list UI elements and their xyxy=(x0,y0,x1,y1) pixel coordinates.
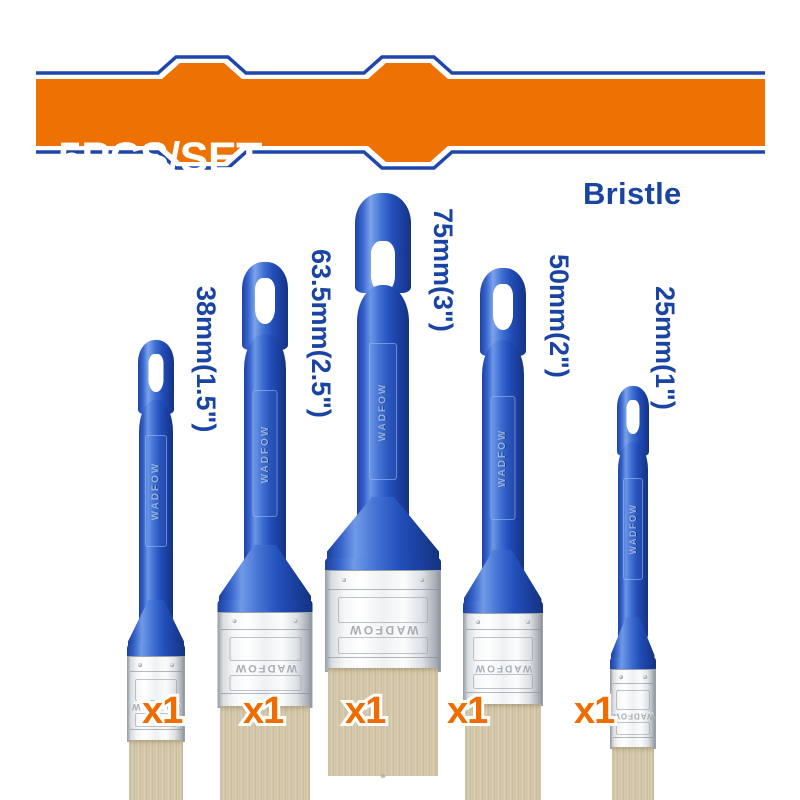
ferrule-rivet xyxy=(619,675,623,679)
ferrule-emboss-shape xyxy=(338,637,428,654)
ferrule-emboss-shape xyxy=(338,597,428,623)
handle-brand-plate: WADFOW xyxy=(145,435,167,547)
handle-brand-text: WADFOW xyxy=(260,424,271,483)
ferrule: WADFOW xyxy=(325,570,441,672)
ferrule: WADFOW xyxy=(610,669,656,749)
ferrule-groove xyxy=(613,737,653,738)
bristles xyxy=(612,747,654,800)
ferrule-groove xyxy=(328,589,438,590)
ferrule-emboss-shape xyxy=(473,674,533,689)
bristle-tip xyxy=(381,774,386,778)
ferrule-rivet xyxy=(294,619,298,623)
handle-brand-text: WADFOW xyxy=(628,504,638,555)
size-label: 25mm(1") xyxy=(649,286,680,410)
handle-brand-plate: WADFOW xyxy=(623,478,643,580)
handle-top-cap xyxy=(355,193,411,293)
handle-brand-text: WADFOW xyxy=(378,382,389,441)
handle-flare xyxy=(219,545,311,607)
pcs-banner: 5PCS/SET xyxy=(0,55,800,170)
qty-badge: x1 xyxy=(142,692,182,730)
hang-hole xyxy=(626,400,639,434)
ferrule-brand-text: WADFOW xyxy=(348,623,419,637)
ferrule-brand-text: WADFOW xyxy=(611,712,654,721)
product-image-canvas: 5PCS/SET Bristle WADFOW WADFOW 38mm(1.5"… xyxy=(0,0,800,800)
ferrule-rivet xyxy=(526,620,530,624)
ferrule-emboss-shape xyxy=(616,690,650,710)
banner-label: 5PCS/SET xyxy=(58,137,262,180)
ferrule-rivet xyxy=(138,663,142,667)
ferrule-groove xyxy=(221,629,310,630)
ferrule-groove xyxy=(466,629,540,630)
handle-flare-surface xyxy=(327,497,439,565)
ferrule-rivet xyxy=(170,663,174,667)
ferrule-emboss-shape xyxy=(473,637,533,661)
ferrule-groove xyxy=(613,683,653,684)
ferrule-emboss-shape xyxy=(616,722,650,735)
handle-flare-surface xyxy=(219,545,311,607)
ferrule-groove xyxy=(328,657,438,658)
handle-flare xyxy=(128,600,184,648)
handle-flare-surface xyxy=(464,550,542,608)
ferrule-brand-text: WADFOW xyxy=(233,662,296,674)
ferrule-emboss-shape xyxy=(229,637,301,661)
bristle-heading: Bristle xyxy=(583,176,682,212)
handle-brand-plate: WADFOW xyxy=(253,390,278,517)
ferrule-rivet xyxy=(476,620,480,624)
handle-brand-text: WADFOW xyxy=(497,429,508,488)
hang-hole xyxy=(149,354,164,392)
hang-hole xyxy=(255,278,275,324)
handle-flare-surface xyxy=(128,600,184,648)
bristles xyxy=(129,740,183,800)
size-label: 50mm(2") xyxy=(543,254,574,378)
qty-badge: x1 xyxy=(574,692,614,730)
ferrule-rivet xyxy=(342,578,346,582)
handle-flare xyxy=(464,550,542,608)
qty-badge: x1 xyxy=(345,692,385,730)
handle-brand-text: WADFOW xyxy=(151,462,162,521)
qty-badge: x1 xyxy=(447,692,487,730)
handle-brand-plate: WADFOW xyxy=(369,343,397,480)
ferrule-rivet xyxy=(643,675,647,679)
hang-hole xyxy=(493,284,513,330)
handle-flare xyxy=(327,497,439,565)
ferrule-emboss-shape xyxy=(229,675,301,691)
ferrule-brand-text: WADFOW xyxy=(473,662,532,673)
ferrule-rivet xyxy=(233,619,237,623)
handle-brand-plate: WADFOW xyxy=(490,396,515,520)
ferrule-groove xyxy=(130,671,182,672)
qty-badge: x1 xyxy=(243,692,283,730)
ferrule-rivet xyxy=(420,578,424,582)
